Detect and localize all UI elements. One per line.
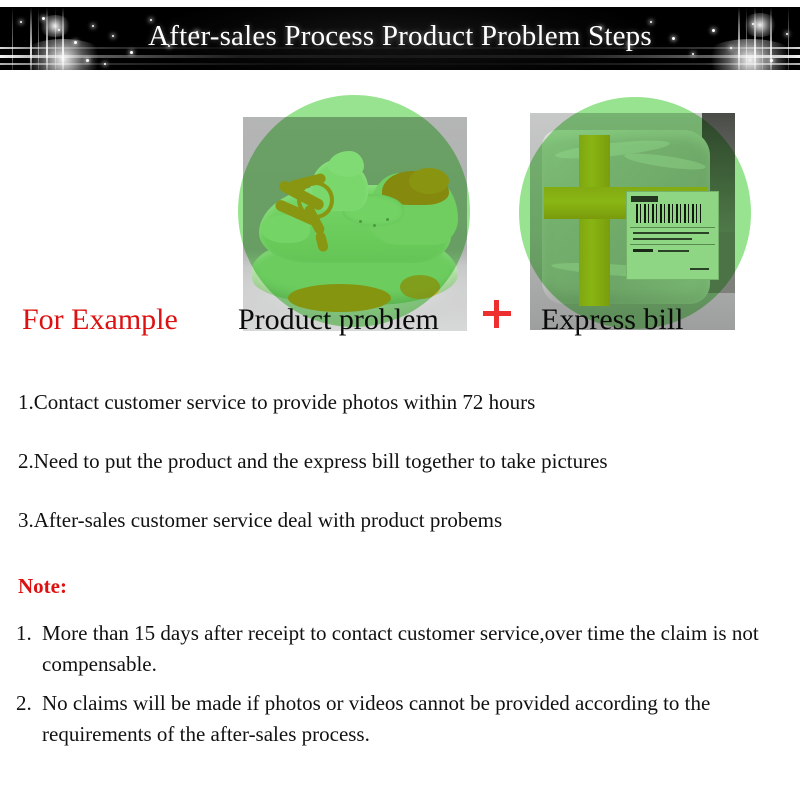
step-item: 1.Contact customer service to provide ph… <box>18 392 788 413</box>
plus-icon-vertical-bar <box>494 300 499 328</box>
sneaker-eyelet <box>373 224 376 227</box>
header-banner: After-sales Process Product Problem Step… <box>0 7 800 70</box>
plus-icon <box>483 300 511 328</box>
express-bill-caption: Express bill <box>541 303 684 337</box>
steps-list: 1.Contact customer service to provide ph… <box>18 392 788 569</box>
label-header-text <box>631 196 658 201</box>
sneaker-collar <box>409 168 449 194</box>
note-item-text: More than 15 days after receipt to conta… <box>42 621 759 676</box>
note-item-number: 1. <box>16 618 42 649</box>
sneaker-tongue-tip <box>328 151 364 177</box>
note-heading: Note: <box>18 574 67 599</box>
note-item: 2.No claims will be made if photos or vi… <box>16 688 796 750</box>
express-bill-photo <box>530 113 735 330</box>
note-list: 1.More than 15 days after receipt to con… <box>16 618 796 758</box>
sneaker-sole-lug <box>400 275 440 299</box>
label-divider <box>630 227 715 228</box>
label-text-line <box>633 232 709 234</box>
step-item: 3.After-sales customer service deal with… <box>18 510 788 531</box>
label-text-line <box>658 250 689 252</box>
page-title: After-sales Process Product Problem Step… <box>0 7 800 70</box>
label-divider <box>630 244 715 245</box>
step-item: 2.Need to put the product and the expres… <box>18 451 788 472</box>
shipping-label <box>626 191 718 280</box>
note-item: 1.More than 15 days after receipt to con… <box>16 618 796 680</box>
packing-tape-vertical <box>579 135 610 306</box>
label-text-line <box>690 268 708 270</box>
label-text-line <box>633 238 693 240</box>
sneaker-lace-knot <box>297 181 334 219</box>
for-example-label: For Example <box>22 303 178 337</box>
label-text-line <box>633 249 653 252</box>
barcode <box>636 204 701 223</box>
note-item-number: 2. <box>16 688 42 719</box>
example-row: For Example <box>0 95 800 355</box>
product-problem-caption: Product problem <box>238 303 439 337</box>
product-problem-photo <box>243 117 467 331</box>
note-item-text: No claims will be made if photos or vide… <box>42 691 710 746</box>
